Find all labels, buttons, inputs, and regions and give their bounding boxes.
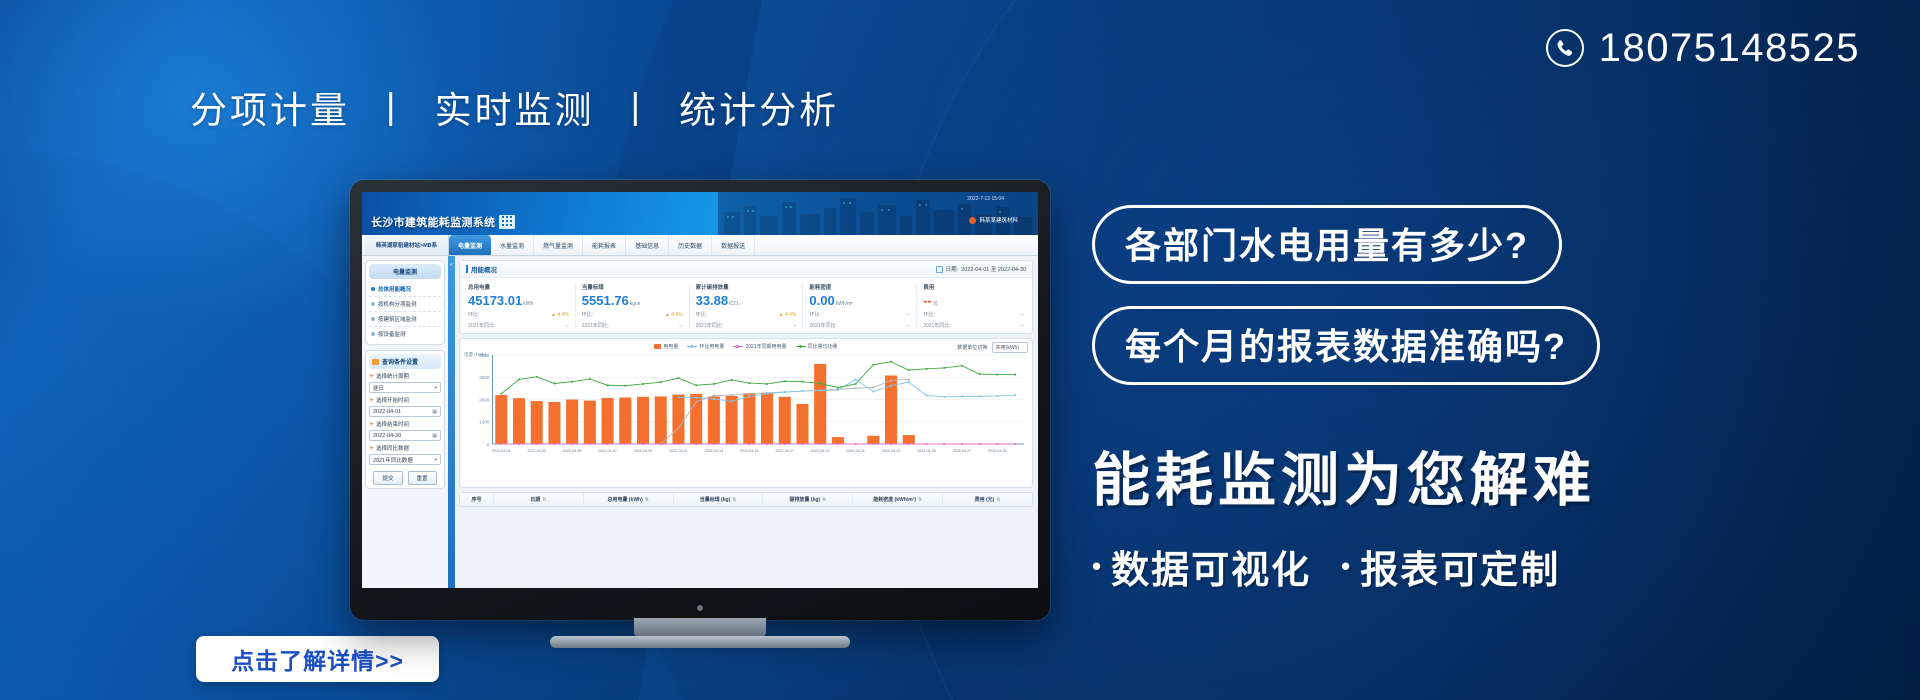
reset-button[interactable]: 重置: [408, 471, 437, 485]
kpi-compare-value: ▲ 4.4%: [665, 312, 683, 318]
kpi-number: 5551.76: [582, 293, 629, 308]
period-select[interactable]: 逐日 ▾: [369, 382, 441, 393]
bullet-dot-icon: [371, 332, 375, 336]
legend-label: 2021年同期用电量: [745, 343, 786, 350]
tab-reports[interactable]: 能耗报表: [583, 235, 626, 255]
app-user-info[interactable]: 韩某某建筑材料: [969, 216, 1018, 224]
kpi-yoy-value: --: [793, 323, 796, 329]
kpi-yoy-label: 2021年同比:: [809, 322, 837, 329]
tab-data-submit[interactable]: 数据报送: [712, 235, 755, 255]
kpi-compare-label: 环比:: [809, 311, 820, 318]
legend-item-mom[interactable]: 环比用电量: [687, 343, 724, 350]
banner-tagline: 分项计量 丨 实时监测 丨 统计分析: [190, 80, 839, 134]
chart-legend: 用电量 环比用电量 2021年同期用电量: [460, 339, 1032, 350]
sidebar-panel-title: 电量监测: [369, 264, 441, 279]
legend-item-usage[interactable]: 用电量: [654, 343, 678, 350]
table-col-carbon[interactable]: 碳排放量 (kg)⇅: [763, 493, 853, 506]
bullet-text-1: 数据可视化: [1111, 539, 1311, 594]
tab-water[interactable]: 水量监测: [491, 235, 534, 255]
kpi-carbon-emission: 累计碳排放量 33.88tCO₂ 环比: ▲ 4.4% 2021年同比:: [690, 283, 804, 329]
app-title: 长沙市建筑能耗监测系统: [371, 214, 515, 230]
svg-text:2022-04-09: 2022-04-09: [634, 449, 653, 453]
kpi-yoy-row: 2021年同比: --: [582, 322, 683, 329]
overview-title-text: 用能概况: [471, 264, 497, 274]
svg-text:2022-04-29: 2022-04-29: [988, 449, 1007, 453]
kpi-cost: 费用 --元 环比: -- 2021年同比: --: [917, 283, 1030, 329]
kpi-standard-coal: 当量标煤 5551.76kgce 环比: ▲ 4.4% 2021年同比:: [576, 283, 690, 329]
main-headline: 能耗监测为您解难: [1092, 433, 1792, 517]
data-table: 序号 日期⇅ 总用电量 (kWh)⇅ 当量标煤 (kg)⇅ 碳排放量 (kg)⇅…: [459, 492, 1033, 507]
sidebar-item-label: 按机构分项监测: [378, 300, 417, 308]
svg-text:2022-04-11: 2022-04-11: [669, 449, 687, 453]
tagline-separator-2: 丨: [608, 90, 666, 131]
kpi-compare-row: 环比: --: [923, 311, 1024, 318]
bullet-marker-1: •: [1092, 551, 1103, 582]
legend-swatch-line: [733, 346, 743, 347]
app-user-label: 韩某某建筑材料: [979, 216, 1018, 224]
monitor-base: [550, 636, 850, 648]
calendar-icon: ▦: [432, 433, 437, 439]
date-range-value: 2022-04-01 至 2022-04-30: [961, 265, 1026, 273]
period-select-value: 逐日: [373, 384, 384, 392]
kpi-yoy-row: 2021年同比: --: [809, 322, 910, 329]
table-col-index[interactable]: 序号: [460, 493, 494, 506]
sort-icon: ⇅: [542, 497, 546, 503]
question-pill-2: 每个月的报表数据准确吗?: [1092, 306, 1600, 385]
right-copy-column: 各部门水电用量有多少? 每个月的报表数据准确吗? 能耗监测为您解难 • 数据可视…: [1092, 205, 1792, 594]
kpi-yoy-label: 2021年同比:: [696, 322, 724, 329]
sidebar-item-label: 按建筑区域监测: [378, 315, 417, 323]
app-main-content: 用能概况 日期: 2022-04-01 至 2022-04-30 总用电量: [455, 256, 1038, 588]
tab-basic-info[interactable]: 基础信息: [626, 235, 669, 255]
table-header-row: 序号 日期⇅ 总用电量 (kWh)⇅ 当量标煤 (kg)⇅ 碳排放量 (kg)⇅…: [460, 493, 1032, 506]
promo-banner: 分项计量 丨 实时监测 丨 统计分析 18075148525 各部门水电用量有多…: [0, 0, 1920, 700]
query-button-row: 提交 重置: [369, 471, 441, 485]
kpi-number: 0.00: [809, 293, 834, 308]
sidebar-item-by-org[interactable]: 按机构分项监测: [369, 297, 441, 312]
phone-number-text: 18075148525: [1599, 28, 1860, 68]
kpi-yoy-value: --: [907, 323, 910, 329]
kpi-label: 当量标煤: [582, 283, 683, 291]
sort-icon: ⇅: [918, 497, 922, 503]
query-panel-title: 查询条件设置: [369, 354, 441, 369]
end-date-value: 2022-04-30: [373, 433, 401, 439]
kpi-yoy-value: --: [565, 323, 568, 329]
sort-icon: ⇅: [645, 497, 649, 503]
kpi-yoy-row: 2021年同比: --: [468, 322, 569, 329]
field-label-text: 选择开始时间: [376, 396, 409, 404]
question-pill-1: 各部门水电用量有多少?: [1092, 205, 1562, 284]
field-label-text: 选择统计周期: [376, 372, 409, 380]
kpi-compare-label: 环比:: [923, 311, 934, 318]
chevron-down-icon: ▾: [434, 385, 437, 391]
app-sidebar: 电量监测 总体用能概况 按机构分项监测 按建筑区域监测: [362, 256, 448, 588]
table-col-total[interactable]: 总用电量 (kWh)⇅: [584, 493, 674, 506]
kpi-label: 费用: [923, 283, 1024, 291]
app-body: 电量监测 总体用能概况 按机构分项监测 按建筑区域监测: [362, 256, 1038, 588]
kpi-compare-row: 环比: ▲ 4.4%: [582, 311, 683, 318]
kpi-unit: kWh: [523, 301, 533, 307]
legend-swatch-line: [687, 346, 697, 347]
app-topbar: 2022-7-13 15:04 长沙市建筑能耗监测系统 韩某某建筑材料: [362, 192, 1038, 235]
svg-text:2022-04-07: 2022-04-07: [598, 449, 617, 453]
energy-chart-card: 数据单位切换: 实用(kWh) 用电量 环比用电量: [459, 338, 1033, 488]
svg-text:2022-04-23: 2022-04-23: [882, 449, 901, 453]
kpi-compare-label: 环比:: [582, 311, 593, 318]
kpi-yoy-value: --: [1021, 323, 1024, 329]
app-title-text: 长沙市建筑能耗监测系统: [371, 214, 495, 230]
monitor-screen: 2022-7-13 15:04 长沙市建筑能耗监测系统 韩某某建筑材料 韩英湖家…: [362, 192, 1038, 588]
monitor-stand: [634, 618, 766, 638]
svg-text:2022-04-25: 2022-04-25: [917, 449, 936, 453]
overview-date-range: 日期: 2022-04-01 至 2022-04-30: [936, 265, 1026, 273]
svg-text:2022-04-13: 2022-04-13: [705, 449, 724, 453]
svg-text:0: 0: [487, 442, 490, 447]
sort-icon: ⇅: [822, 497, 826, 503]
kpi-yoy-row: 2021年同比: --: [923, 322, 1024, 329]
query-title-text: 查询条件设置: [382, 357, 418, 366]
user-avatar-icon: [969, 217, 976, 224]
chart-svg: 010002000300040002022-04-012022-04-03202…: [462, 350, 1030, 462]
overview-card: 用能概况 日期: 2022-04-01 至 2022-04-30 总用电量: [459, 260, 1033, 334]
field-label-end: ✳ 选择结束时间: [369, 420, 441, 428]
monitor-indicator-led: [697, 605, 703, 611]
kpi-energy-density: 能耗密度 0.00kWh/m² 环比: -- 2021年同比:: [803, 283, 917, 329]
field-label-text: 选择同比数据: [376, 444, 409, 452]
field-label-yoy: ✳ 选择同比数据: [369, 444, 441, 452]
table-col-date[interactable]: 日期⇅: [494, 493, 584, 506]
kpi-compare-label: 环比:: [468, 311, 479, 318]
learn-more-button[interactable]: 点击了解详情>>: [196, 636, 439, 682]
org-breadcrumb[interactable]: 韩英湖家租建材站>МВ系: [365, 235, 449, 255]
sort-icon: ⇅: [732, 497, 736, 503]
bullet-marker-2: •: [1341, 551, 1352, 582]
kpi-compare-value: --: [1021, 312, 1024, 318]
field-label-start: ✳ 选择开始时间: [369, 396, 441, 404]
chevron-down-icon: ▾: [434, 457, 437, 463]
svg-text:2000: 2000: [479, 398, 490, 403]
end-date-input[interactable]: 2022-04-30 ▦: [369, 430, 441, 441]
chart-plot-area: 电量 (kWh) 010002000300040002022-04-012022…: [460, 350, 1032, 468]
phone-circle-icon: [1545, 28, 1585, 68]
bullet-dot-icon: [371, 317, 375, 321]
kpi-compare-label: 环比:: [696, 311, 707, 318]
app-tabbar: 韩英湖家租建材站>МВ系 电量监测 水量监测 燃气量监测 能耗报表 基础信息 历…: [362, 235, 1038, 256]
legend-label: 同比量均功量: [808, 343, 838, 350]
table-col-density[interactable]: 能耗密度 (kWh/m²)⇅: [853, 493, 943, 506]
tagline-separator-1: 丨: [363, 90, 421, 131]
table-col-coal[interactable]: 当量标煤 (kg)⇅: [674, 493, 764, 506]
feature-bullets: • 数据可视化 • 报表可定制: [1092, 539, 1792, 594]
kpi-row: 总用电量 45173.01kWh 环比: ▲ 4.4% 2021年同比:: [460, 278, 1032, 333]
kpi-yoy-label: 2021年同比:: [582, 322, 610, 329]
kpi-compare-row: 环比: ▲ 4.4%: [468, 311, 569, 318]
kpi-yoy-label: 2021年同比:: [923, 322, 951, 329]
field-label-text: 选择结束时间: [376, 420, 409, 428]
svg-text:2022-04-27: 2022-04-27: [953, 449, 972, 453]
calendar-icon: ▦: [432, 409, 437, 415]
kpi-unit: 元: [933, 301, 938, 307]
kpi-value: 5551.76kgce: [582, 294, 683, 307]
legend-label: 环比用电量: [699, 343, 724, 350]
legend-item-yoy[interactable]: 2021年同期用电量: [733, 343, 786, 350]
sidebar-query-panel: 查询条件设置 ✳ 选择统计周期 逐日 ▾ ✳ 选择开始时间: [365, 350, 445, 489]
required-star-icon: ✳: [369, 421, 374, 428]
title-accent-bar: [466, 265, 468, 273]
tagline-part-3: 统计分析: [679, 90, 839, 131]
bullet-text-2: 报表可定制: [1360, 539, 1560, 594]
kpi-compare-row: 环比: --: [809, 311, 910, 318]
start-date-input[interactable]: 2022-04-01 ▦: [369, 406, 441, 417]
tagline-part-2: 实时监测: [435, 90, 595, 131]
svg-text:3000: 3000: [479, 375, 490, 380]
tab-electricity[interactable]: 电量监测: [449, 235, 491, 255]
legend-item-avg[interactable]: 同比量均功量: [796, 343, 838, 350]
field-label-period: ✳ 选择统计周期: [369, 372, 441, 380]
chart-y-axis-title: 电量 (kWh): [464, 352, 486, 358]
tab-history[interactable]: 历史数据: [669, 235, 712, 255]
kpi-yoy-value: --: [679, 323, 682, 329]
kpi-unit: kgce: [630, 301, 641, 307]
bullet-dot-icon: [371, 287, 375, 291]
required-star-icon: ✳: [369, 397, 374, 404]
app-timestamp: 2022-7-13 15:04: [967, 196, 1004, 202]
kpi-unit: kWh/m²: [836, 301, 853, 307]
kpi-label: 总用电量: [468, 283, 569, 291]
submit-button[interactable]: 提交: [373, 471, 402, 485]
kpi-value: --元: [923, 294, 1024, 307]
required-star-icon: ✳: [369, 445, 374, 452]
sidebar-item-overview[interactable]: 总体用能概况: [369, 282, 441, 297]
kpi-compare-row: 环比: ▲ 4.4%: [696, 311, 797, 318]
kpi-compare-value: ▲ 4.4%: [551, 312, 569, 318]
sort-icon: ⇅: [996, 497, 1000, 503]
start-date-value: 2022-04-01: [373, 409, 401, 415]
svg-text:2022-04-15: 2022-04-15: [740, 449, 759, 453]
svg-text:1000: 1000: [479, 420, 490, 425]
legend-label: 用电量: [663, 343, 678, 350]
kpi-value: 33.88tCO₂: [696, 294, 797, 307]
svg-text:2022-04-21: 2022-04-21: [846, 449, 865, 453]
table-col-cost[interactable]: 费用 (元)⇅: [943, 493, 1032, 506]
required-star-icon: ✳: [369, 373, 374, 380]
sidebar-collapse-toggle[interactable]: «: [448, 256, 455, 588]
kpi-compare-value: ▲ 4.4%: [779, 312, 797, 318]
yoy-select[interactable]: 2021年同比数据 ▾: [369, 454, 441, 465]
tagline-part-1: 分项计量: [190, 90, 350, 131]
kpi-yoy-row: 2021年同比: --: [696, 322, 797, 329]
flag-icon: [372, 359, 379, 365]
svg-text:2022-04-05: 2022-04-05: [563, 449, 582, 453]
legend-swatch-line: [796, 346, 806, 347]
kpi-unit: tCO₂: [729, 301, 740, 307]
svg-text:2022-04-01: 2022-04-01: [492, 449, 511, 453]
kpi-value: 45173.01kWh: [468, 294, 569, 307]
sidebar-item-by-device[interactable]: 按设备监测: [369, 327, 441, 341]
kpi-value: 0.00kWh/m²: [809, 294, 910, 307]
tab-gas[interactable]: 燃气量监测: [534, 235, 583, 255]
monitor-mockup: 2022-7-13 15:04 长沙市建筑能耗监测系统 韩某某建筑材料 韩英湖家…: [350, 180, 1050, 620]
yoy-select-value: 2021年同比数据: [373, 456, 413, 464]
kpi-total-electricity: 总用电量 45173.01kWh 环比: ▲ 4.4% 2021年同比:: [462, 283, 576, 329]
kpi-number: 45173.01: [468, 293, 522, 308]
kpi-label: 能耗密度: [809, 283, 910, 291]
date-label: 日期:: [946, 265, 959, 273]
kpi-number: --: [923, 293, 932, 308]
overview-card-title: 用能概况: [466, 264, 497, 274]
legend-swatch-bar: [654, 344, 661, 349]
contact-phone[interactable]: 18075148525: [1545, 28, 1860, 68]
kpi-number: 33.88: [696, 293, 729, 308]
sidebar-nav-panel: 电量监测 总体用能概况 按机构分项监测 按建筑区域监测: [365, 260, 445, 345]
bullet-dot-icon: [371, 302, 375, 306]
sidebar-item-label: 按设备监测: [378, 330, 406, 338]
kpi-yoy-label: 2021年同比:: [468, 322, 496, 329]
app-logo-icon: [499, 215, 515, 229]
overview-card-header: 用能概况 日期: 2022-04-01 至 2022-04-30: [460, 261, 1032, 278]
svg-text:2022-04-19: 2022-04-19: [811, 449, 830, 453]
sidebar-item-label: 总体用能概况: [378, 285, 411, 293]
svg-text:2022-04-17: 2022-04-17: [775, 449, 794, 453]
svg-text:2022-04-03: 2022-04-03: [527, 449, 546, 453]
kpi-label: 累计碳排放量: [696, 283, 797, 291]
kpi-compare-value: --: [907, 312, 910, 318]
calendar-icon: [936, 266, 943, 273]
sidebar-item-by-zone[interactable]: 按建筑区域监测: [369, 312, 441, 327]
